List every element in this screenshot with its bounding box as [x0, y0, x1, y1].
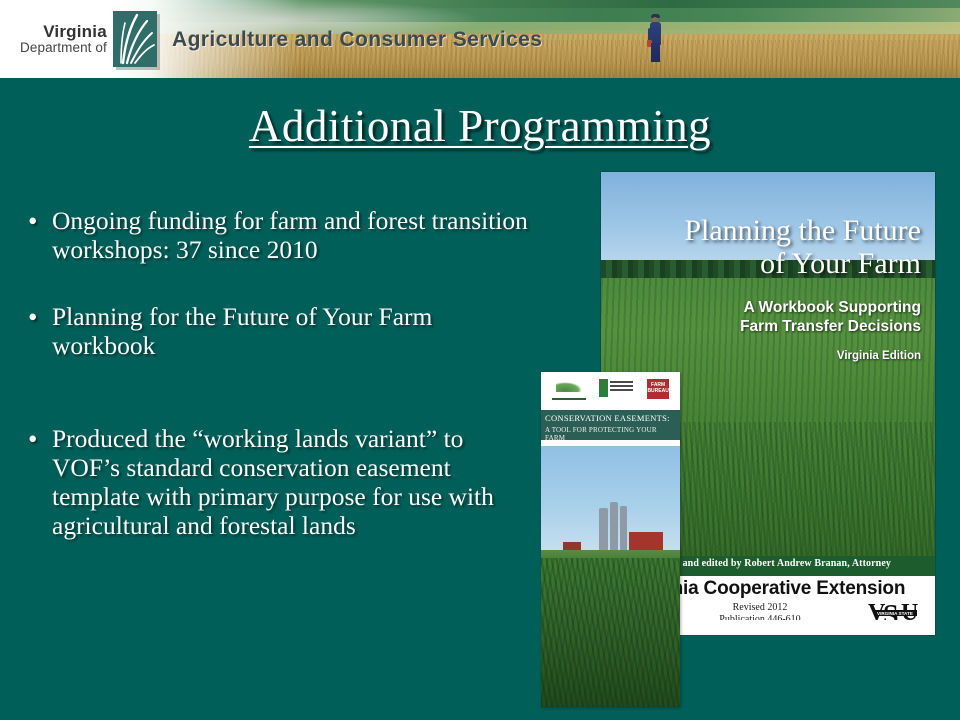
list-item-text: Produced the “working lands variant” to … [52, 424, 534, 540]
book-edition-label: Virginia Edition [601, 350, 921, 362]
bullet-marker-icon: • [14, 302, 52, 332]
logo-wordmark: Virginia Department of [20, 23, 113, 55]
booklet-logo-row: FARM BUREAU [541, 374, 680, 404]
bullet-marker-icon: • [14, 206, 52, 236]
farm-bureau-logo-icon: FARM BUREAU [647, 379, 669, 399]
header-banner: Virginia Department of Agriculture and C… [0, 0, 960, 78]
silo-icon [620, 506, 627, 552]
farmer-figure-icon [648, 14, 664, 62]
silo-icon [610, 502, 618, 552]
book-title: Planning the Future of Your Farm [601, 214, 921, 280]
list-item: • Ongoing funding for farm and forest tr… [14, 206, 534, 264]
bullet-marker-icon: • [14, 424, 52, 454]
svg-text:VIRGINIA STATE: VIRGINIA STATE [877, 611, 913, 616]
book-subtitle-line1: A Workbook Supporting [601, 298, 921, 317]
agency-title: Agriculture and Consumer Services [172, 28, 542, 52]
booklet-photo [541, 446, 680, 707]
list-item: • Produced the “working lands variant” t… [14, 424, 534, 540]
list-item-text: Ongoing funding for farm and forest tran… [52, 206, 534, 264]
presentation-slide: Virginia Department of Agriculture and C… [0, 0, 960, 720]
extension-logo-icon [599, 379, 633, 399]
plant-leaves-icon [113, 11, 157, 67]
silo-icon [599, 508, 608, 552]
list-item: • Planning for the Future of Your Farm w… [14, 302, 534, 360]
logo-line-virginia: Virginia [20, 23, 107, 40]
booklet-title-line1: CONSERVATION EASEMENTS: [545, 413, 677, 423]
booklet-cover-image: FARM BUREAU CONSERVATION EASEMENTS: A TO… [541, 372, 680, 707]
book-subtitle: A Workbook Supporting Farm Transfer Deci… [601, 298, 921, 336]
page-title: Additional Programming [0, 100, 960, 152]
book-subtitle-line2: Farm Transfer Decisions [601, 317, 921, 336]
vdacs-logo[interactable]: Virginia Department of [20, 8, 157, 70]
list-item-text: Planning for the Future of Your Farm wor… [52, 302, 534, 360]
bullet-list: • Ongoing funding for farm and forest tr… [14, 206, 534, 544]
booklet-photo-cornfield [541, 558, 680, 707]
booklet-title-line2: A TOOL FOR PROTECTING YOUR FARM [545, 426, 677, 442]
land-trust-logo-icon [552, 378, 586, 400]
book-title-line1: Planning the Future [601, 214, 921, 247]
book-title-line2: of Your Farm [601, 247, 921, 280]
book-revised-year: Revised 2012 [665, 602, 855, 614]
logo-line-department: Department of [20, 41, 107, 55]
barn-icon [629, 532, 663, 552]
